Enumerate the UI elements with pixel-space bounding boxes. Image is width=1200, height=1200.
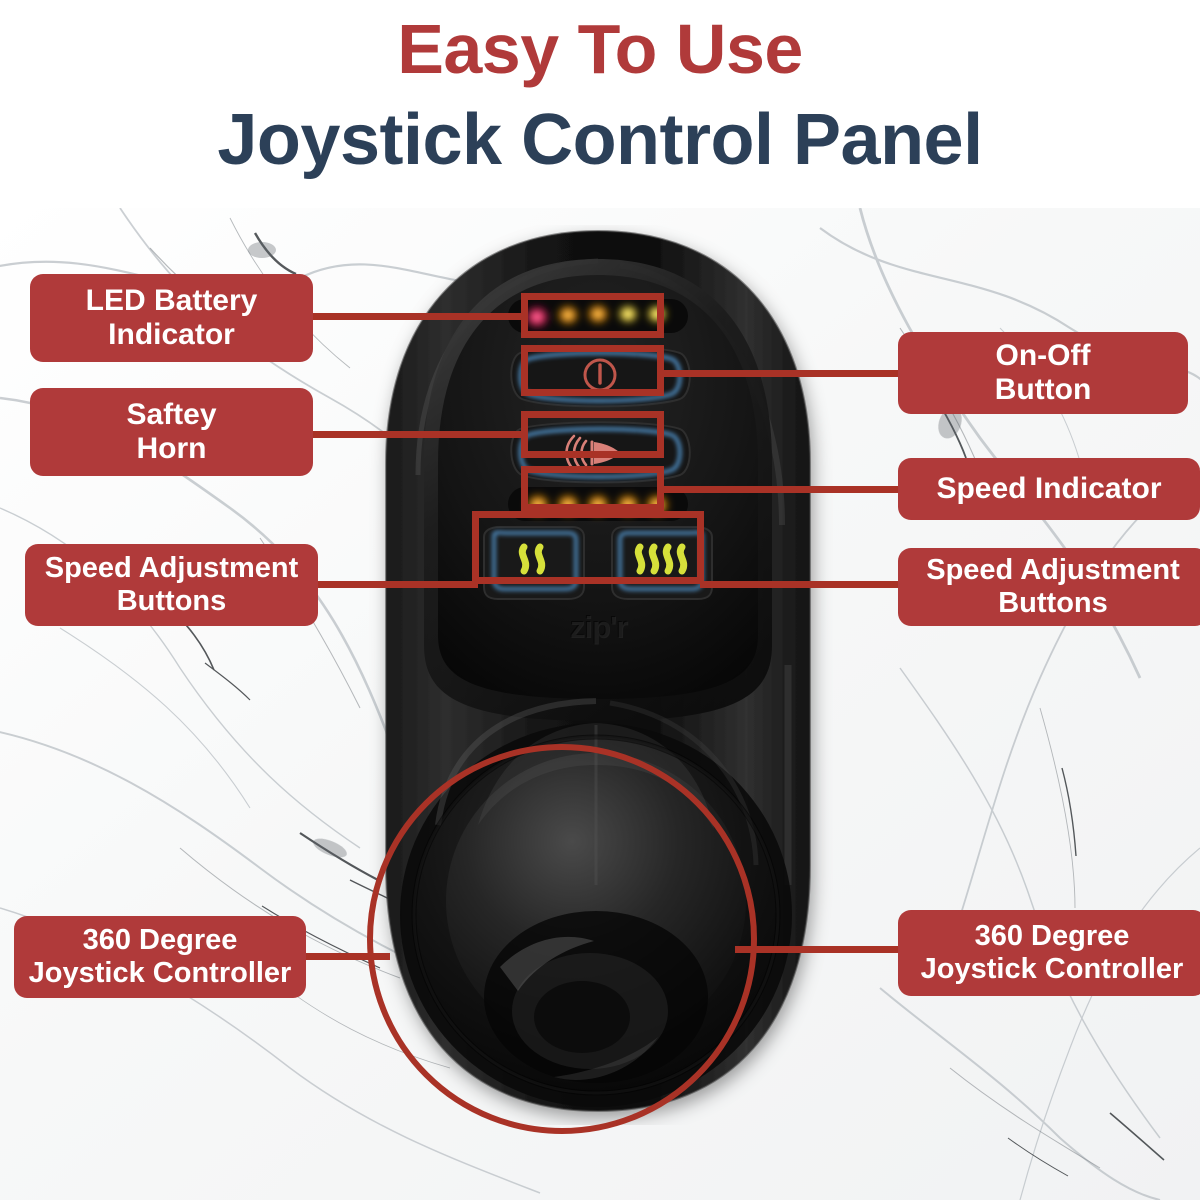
page-title-line-2: Joystick Control Panel — [0, 104, 1200, 176]
callout-speed-adjustment-left-line2: Buttons — [117, 585, 227, 617]
callout-led-battery-line2: Indicator — [108, 318, 235, 351]
highlight-box-horn-button — [521, 411, 664, 458]
poster-root: Easy To Use Joystick Control Panel — [0, 0, 1200, 1200]
leader-line-adjust-left — [313, 581, 478, 588]
leader-line-adjust-right — [700, 581, 903, 588]
callout-on-off-line1: On-Off — [996, 339, 1091, 372]
callout-speed-indicator[interactable]: Speed Indicator — [898, 458, 1200, 520]
highlight-box-power-button — [521, 345, 664, 396]
leader-line-on-off — [658, 370, 903, 377]
callout-speed-indicator-text: Speed Indicator — [936, 472, 1161, 506]
callout-speed-adjustment-right-line1: Speed Adjustment — [926, 554, 1180, 586]
svg-text:zip'r: zip'r — [570, 610, 628, 645]
callout-joystick-right-line2: Joystick Controller — [921, 953, 1184, 985]
leader-line-joystick-right — [735, 946, 903, 953]
callout-led-battery-line1: LED Battery — [86, 284, 258, 317]
poster-header: Easy To Use Joystick Control Panel — [0, 0, 1200, 208]
callout-safety-horn-line2: Horn — [136, 432, 206, 465]
leader-line-led-battery — [308, 313, 527, 320]
highlight-box-speed-indicator — [521, 466, 664, 511]
callout-safety-horn-line1: Saftey — [126, 398, 216, 431]
leader-line-speed-indicator — [658, 486, 903, 493]
callout-on-off-line2: Button — [995, 373, 1092, 406]
callout-speed-adjustment-left-line1: Speed Adjustment — [45, 552, 299, 584]
callout-joystick-left[interactable]: 360 Degree Joystick Controller — [14, 916, 306, 998]
highlight-circle-joystick — [367, 744, 757, 1134]
callout-speed-adjustment-right-line2: Buttons — [998, 587, 1108, 619]
callout-joystick-right[interactable]: 360 Degree Joystick Controller — [898, 910, 1200, 996]
callout-on-off-button[interactable]: On-Off Button — [898, 332, 1188, 414]
highlight-box-speed-adjust-buttons — [472, 511, 704, 584]
callout-joystick-left-line1: 360 Degree — [83, 924, 238, 956]
callout-speed-adjustment-left[interactable]: Speed Adjustment Buttons — [25, 544, 318, 626]
callout-led-battery-indicator[interactable]: LED Battery Indicator — [30, 274, 313, 362]
callout-joystick-left-line2: Joystick Controller — [29, 957, 292, 989]
page-title-line-1: Easy To Use — [0, 14, 1200, 84]
leader-line-safety-horn — [308, 431, 527, 438]
highlight-box-battery-indicator — [521, 293, 664, 338]
callout-speed-adjustment-right[interactable]: Speed Adjustment Buttons — [898, 548, 1200, 626]
callout-safety-horn[interactable]: Saftey Horn — [30, 388, 313, 476]
callout-joystick-right-line1: 360 Degree — [975, 920, 1130, 952]
